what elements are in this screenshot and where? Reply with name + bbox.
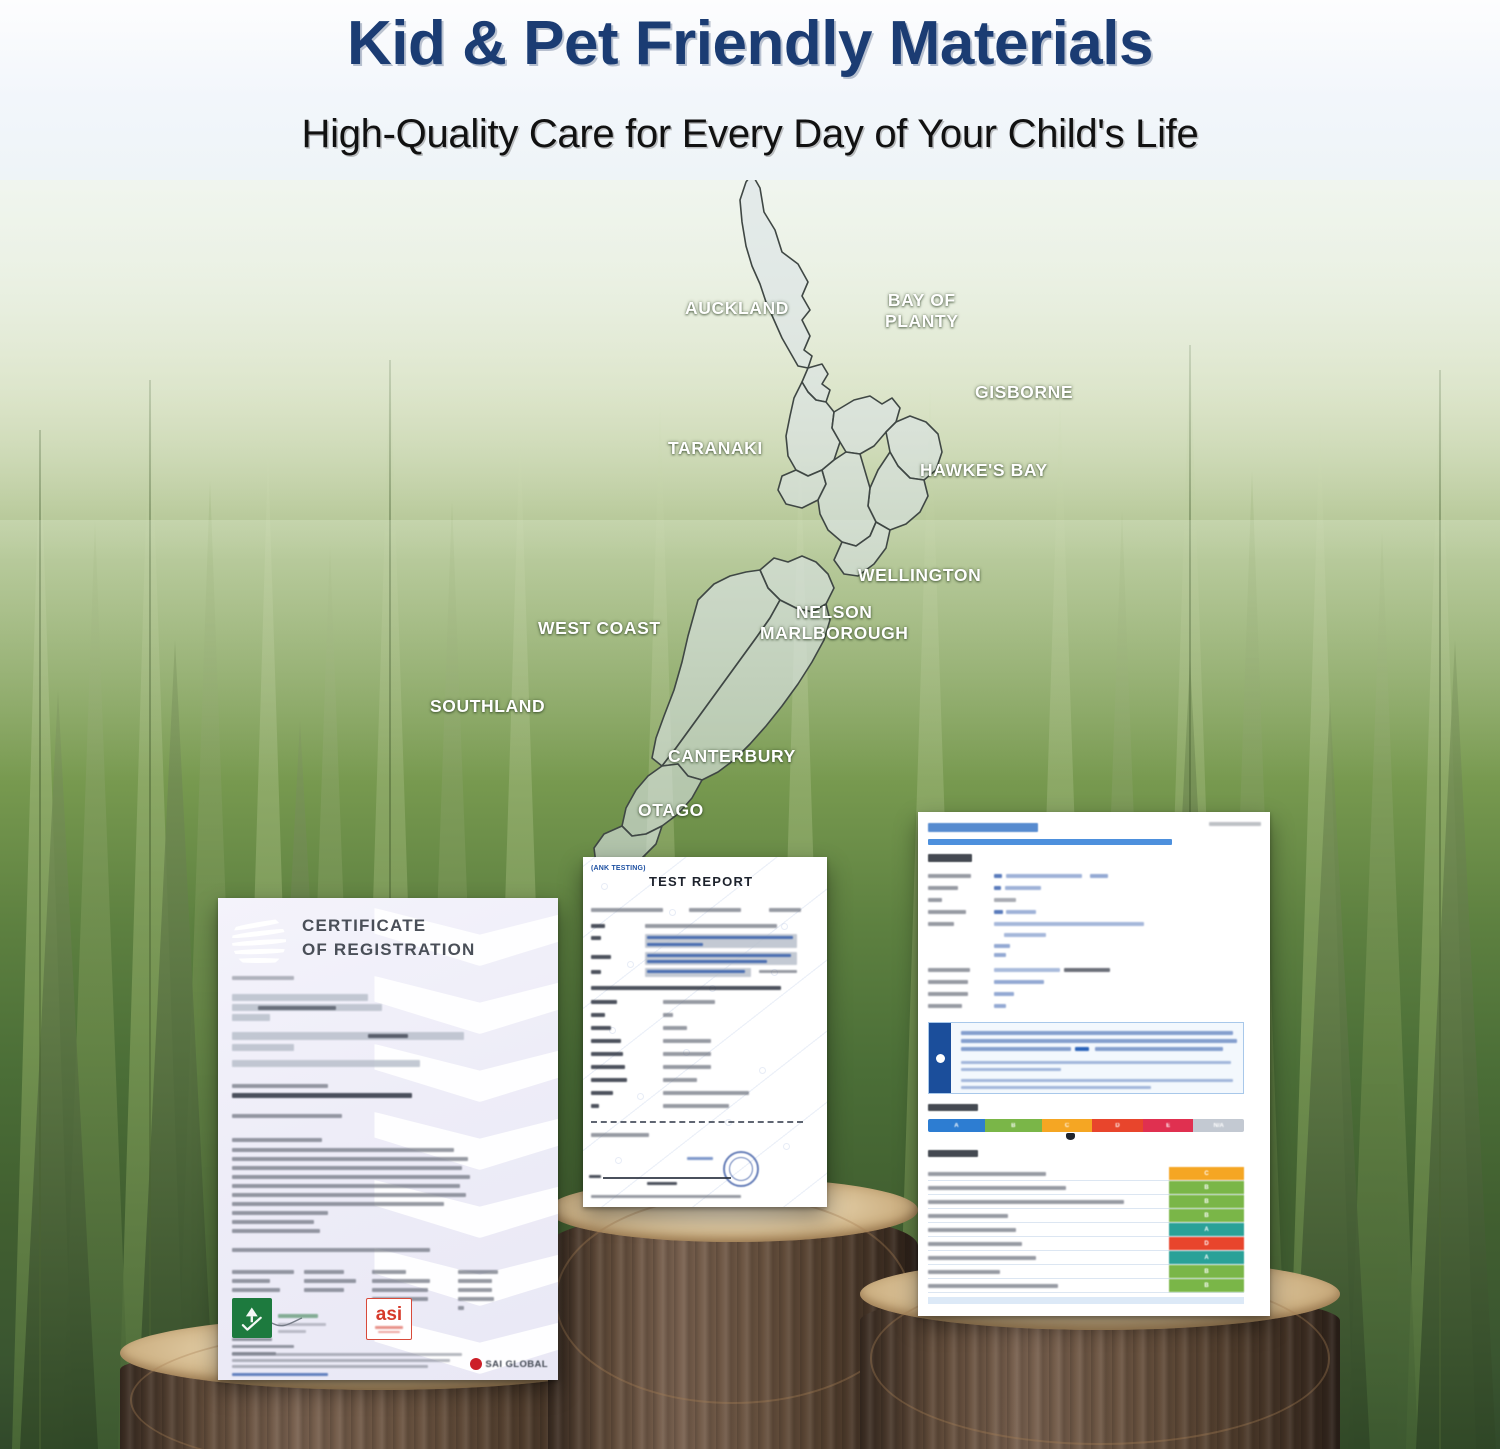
picture-frame-border: CERTIFICATE OF REGISTRATION: [218, 898, 558, 1380]
certificate-heading-line2: OF REGISTRATION: [302, 940, 476, 960]
picture-frame-border: (ANK TESTING) TEST REPORT: [583, 857, 827, 1207]
table-row: B: [928, 1181, 1244, 1195]
section-heading-section-rating: [928, 1150, 978, 1157]
page-title: Kid & Pet Friendly Materials: [0, 8, 1500, 79]
table-row: A: [928, 1223, 1244, 1237]
map-label-nelson-marlborough: NELSON MARLBOROUGH: [760, 602, 909, 643]
table-row: A: [928, 1251, 1244, 1265]
test-report-document: (ANK TESTING) TEST REPORT: [583, 857, 827, 1207]
section-heading-overall-rating: [928, 1104, 978, 1111]
framed-certificate[interactable]: CERTIFICATE OF REGISTRATION: [218, 898, 558, 1380]
picture-frame-border: A B C D E N/A C: [918, 812, 1270, 1316]
fsc-logo: [232, 1298, 272, 1338]
map-label-wellington: WELLINGTON: [858, 565, 981, 586]
section-heading-monitoring: [928, 854, 972, 862]
map-label-west-coast: WEST COAST: [538, 618, 661, 639]
framed-test-report[interactable]: (ANK TESTING) TEST REPORT: [583, 857, 827, 1207]
map-label-canterbury: CANTERBURY: [668, 746, 796, 767]
overall-rating-marker: [1066, 1133, 1075, 1140]
section-divider: [591, 1121, 803, 1123]
audit-report-footer-bar: [928, 1297, 1244, 1304]
certificate-document: CERTIFICATE OF REGISTRATION: [218, 898, 558, 1380]
signature-line: [603, 1177, 731, 1179]
picture-frame-mat: CERTIFICATE OF REGISTRATION: [227, 907, 549, 1371]
framed-audit-report[interactable]: A B C D E N/A C: [918, 812, 1270, 1316]
asi-logo: asi: [366, 1298, 412, 1340]
lab-logo: (ANK TESTING): [591, 865, 646, 872]
page-subtitle: High-Quality Care for Every Day of Your …: [0, 112, 1500, 157]
region-northland: [740, 174, 812, 368]
map-label-taranaki: TARANAKI: [668, 438, 763, 459]
map-label-hawkes-bay: HAWKE'S BAY: [920, 460, 1048, 481]
table-row: D: [928, 1237, 1244, 1251]
infographic-canvas: AUCKLAND BAY OF PLANTY GISBORNE TARANAKI…: [0, 0, 1500, 1449]
north-island-group: [740, 174, 942, 576]
audit-report-document: A B C D E N/A C: [918, 812, 1270, 1316]
region-manawatu: [818, 452, 876, 546]
map-label-bay-of-planty: BAY OF PLANTY: [885, 290, 959, 331]
table-row: B: [928, 1279, 1244, 1293]
section-rating-table: C B B B: [928, 1167, 1244, 1293]
map-label-gisborne: GISBORNE: [975, 382, 1073, 403]
map-label-southland: SOUTHLAND: [430, 696, 545, 717]
table-row: B: [928, 1265, 1244, 1279]
sai-global-footer-brand: SAI GLOBAL: [470, 1358, 548, 1370]
overall-rating-bar: A B C D E N/A: [928, 1119, 1244, 1132]
test-report-title: TEST REPORT: [649, 874, 753, 889]
info-callout: [928, 1022, 1244, 1094]
audit-report-page-meta: [1209, 822, 1261, 826]
map-label-auckland: AUCKLAND: [685, 298, 789, 319]
callout-info-icon: [929, 1023, 951, 1093]
header-band: Kid & Pet Friendly Materials High-Qualit…: [0, 0, 1500, 180]
new-zealand-map: AUCKLAND BAY OF PLANTY GISBORNE TARANAKI…: [430, 160, 1090, 900]
picture-frame-mat: (ANK TESTING) TEST REPORT: [592, 866, 818, 1198]
fsc-tree-checkmark-icon: [237, 1303, 267, 1333]
picture-frame-mat: A B C D E N/A C: [927, 821, 1261, 1307]
map-outline-svg: [430, 160, 1090, 900]
sai-global-logo: [232, 914, 286, 968]
audit-report-title: [928, 823, 1038, 832]
table-row: B: [928, 1195, 1244, 1209]
table-row: B: [928, 1209, 1244, 1223]
sai-global-dot-icon: [470, 1358, 482, 1370]
table-row: C: [928, 1167, 1244, 1181]
lab-stamp: [723, 1151, 759, 1187]
certificate-heading-line1: CERTIFICATE: [302, 916, 426, 936]
map-label-otago: OTAGO: [638, 800, 704, 821]
audit-report-header-rule: [928, 839, 1172, 845]
